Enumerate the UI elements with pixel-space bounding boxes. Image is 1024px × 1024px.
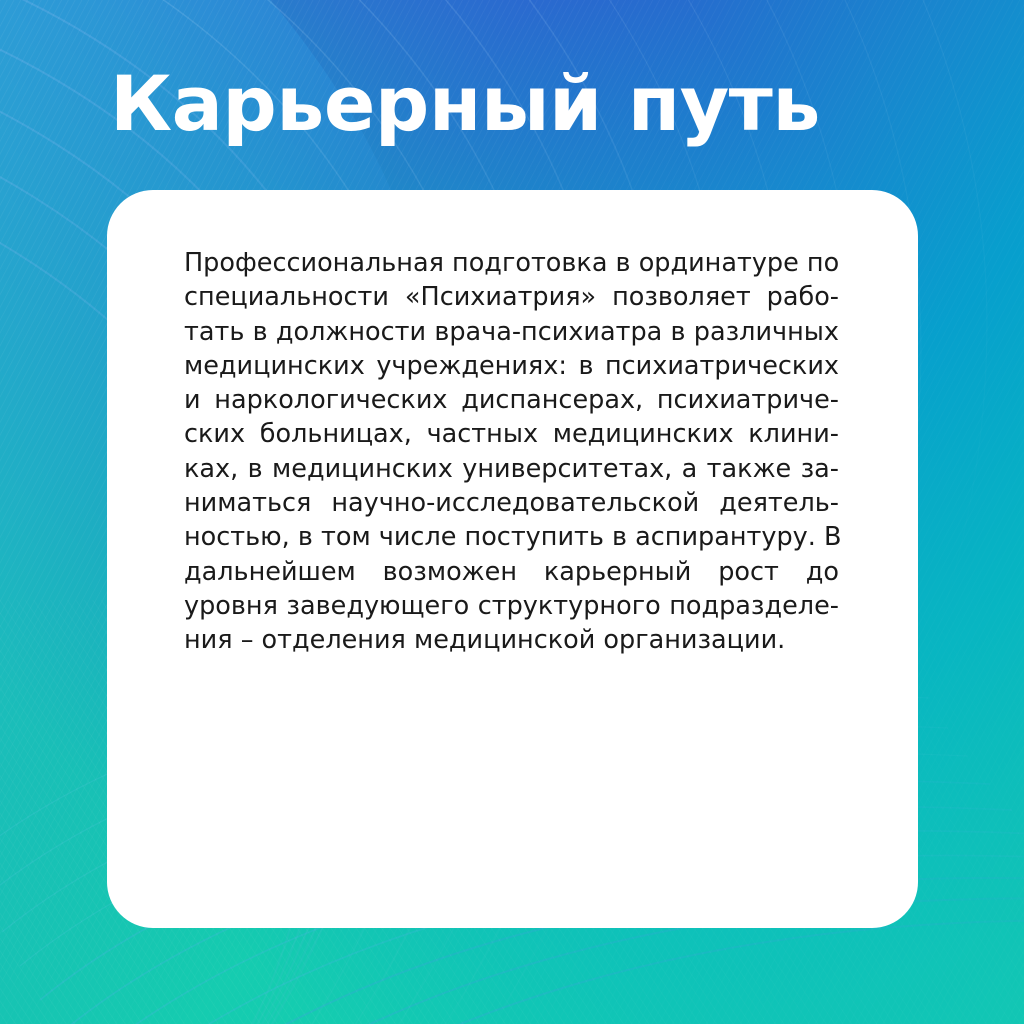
paragraph-line: ностью, в том числе поступить в аспирант… <box>184 520 839 554</box>
page-title: Карьерный путь <box>110 66 820 142</box>
slide-root: Карьерный путь Профессиональная подготов… <box>0 0 1024 1024</box>
paragraph-line: специальности «Психиатрия» позволяет раб… <box>184 280 839 314</box>
content-card: Профессиональная подготовка в ординатуре… <box>107 190 918 928</box>
paragraph-line: ниматься научно-исследовательской деятел… <box>184 486 839 520</box>
paragraph-line: ках, в медицинских университетах, а такж… <box>184 452 839 486</box>
paragraph-line: медицинских учреждениях: в психиатрическ… <box>184 349 839 383</box>
paragraph-line: дальнейшем возможен карьерный рост до <box>184 555 839 589</box>
card-body: Профессиональная подготовка в ординатуре… <box>184 246 839 658</box>
paragraph-line: Профессиональная подготовка в ординатуре… <box>184 246 839 280</box>
paragraph-line: и наркологических диспансерах, психиатри… <box>184 383 839 417</box>
paragraph-line: уровня заведующего структурного подразде… <box>184 589 839 623</box>
paragraph-line: тать в должности врача-психиатра в разли… <box>184 315 839 349</box>
paragraph-line: ния – отделения медицинской организации. <box>184 623 839 657</box>
career-description-paragraph: Профессиональная подготовка в ординатуре… <box>184 246 839 658</box>
paragraph-line: ских больницах, частных медицинских клин… <box>184 417 839 451</box>
